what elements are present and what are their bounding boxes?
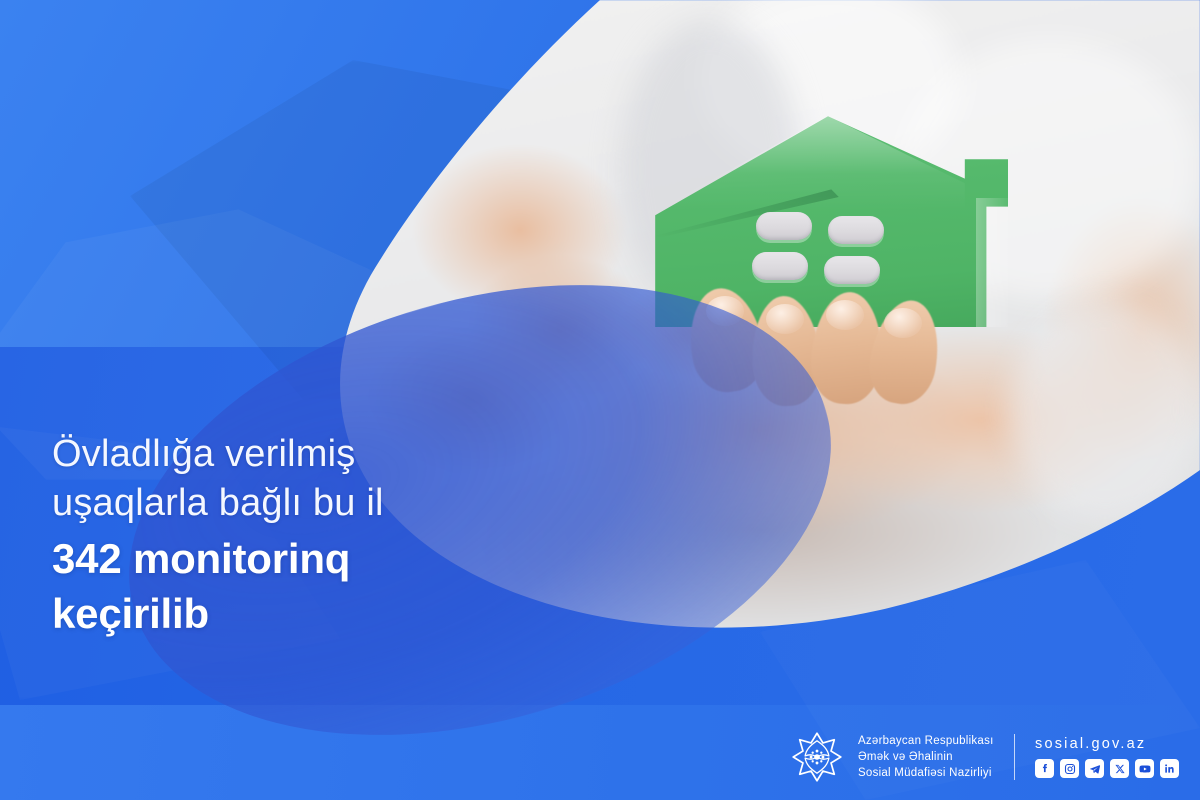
instagram-icon[interactable] (1060, 759, 1079, 778)
footer-divider (1014, 734, 1016, 780)
youtube-icon[interactable] (1135, 759, 1154, 778)
azerbaijan-ministry-star-emblem (790, 730, 844, 784)
house-window (828, 216, 884, 244)
house-window (824, 256, 880, 284)
ministry-line-3: Sosial Müdafiəsi Nazirliyi (858, 765, 994, 781)
ministry-line-1: Azərbaycan Respublikası (858, 733, 994, 749)
fingernail (884, 308, 922, 338)
green-house-toy (648, 112, 1008, 327)
telegram-icon[interactable] (1085, 759, 1104, 778)
footer-branding: Azərbaycan Respublikası Əmək və Əhalinin… (790, 730, 1179, 784)
ministry-line-2: Əmək və Əhalinin (858, 749, 994, 765)
web-and-socials: sosial.gov.az (1035, 736, 1179, 778)
house-window (756, 212, 812, 240)
fingernail (766, 304, 804, 334)
house-side-highlight (976, 198, 1008, 327)
linkedin-icon[interactable] (1160, 759, 1179, 778)
headline-line-3: 342 monitorinq (52, 533, 612, 584)
fingernail (826, 300, 864, 330)
facebook-icon[interactable] (1035, 759, 1054, 778)
social-info-card: Övladlığa verilmiş uşaqlarla bağlı bu il… (0, 0, 1200, 800)
headline-block: Övladlığa verilmiş uşaqlarla bağlı bu il… (52, 430, 612, 639)
ministry-name: Azərbaycan Respublikası Əmək və Əhalinin… (858, 733, 994, 782)
headline-line-1: Övladlığa verilmiş (52, 430, 612, 479)
x-twitter-icon[interactable] (1110, 759, 1129, 778)
website-url[interactable]: sosial.gov.az (1035, 736, 1179, 752)
house-window (752, 252, 808, 280)
headline-line-2: uşaqlarla bağlı bu il (52, 479, 612, 528)
headline-line-4: keçirilib (52, 588, 612, 639)
social-links (1035, 759, 1179, 778)
